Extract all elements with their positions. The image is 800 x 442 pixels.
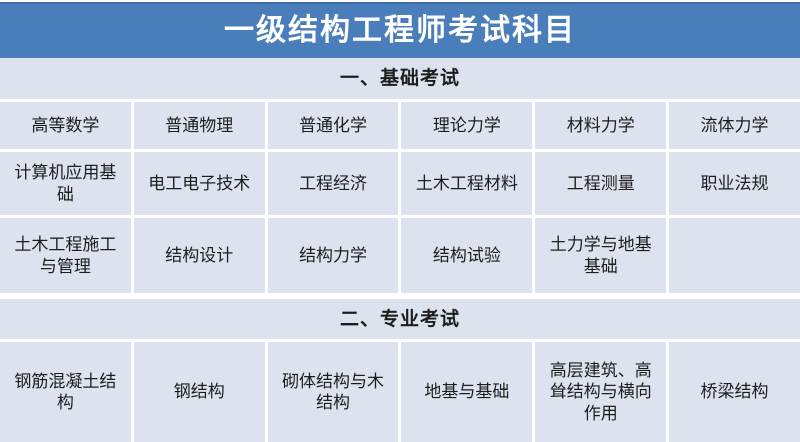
subject-cell: 电工电子技术 <box>134 152 268 215</box>
subject-cell: 理论力学 <box>401 102 535 149</box>
subject-cell: 钢结构 <box>134 342 268 442</box>
section-header-major: 二、专业考试 <box>0 296 800 342</box>
subject-cell: 土木工程施工与管理 <box>0 218 134 293</box>
subject-cell: 流体力学 <box>669 102 800 149</box>
exam-subjects-table: 一级结构工程师考试科目 一、基础考试 高等数学 普通物理 普通化学 理论力学 材… <box>0 0 800 442</box>
table-row: 土木工程施工与管理 结构设计 结构力学 结构试验 土力学与地基基础 <box>0 218 800 296</box>
subject-label: 土力学与地基基础 <box>542 234 659 277</box>
subject-label: 砌体结构与木结构 <box>275 371 392 414</box>
subject-label: 结构试验 <box>433 245 501 266</box>
subject-label: 工程测量 <box>567 173 635 194</box>
subject-cell: 结构试验 <box>401 218 535 293</box>
subject-label: 土木工程施工与管理 <box>7 234 124 277</box>
subject-cell: 高层建筑、高耸结构与横向作用 <box>535 342 669 442</box>
subject-label: 工程经济 <box>299 173 367 194</box>
subject-cell: 普通物理 <box>134 102 268 149</box>
subject-label: 职业法规 <box>701 173 769 194</box>
subject-cell: 土木工程材料 <box>401 152 535 215</box>
subject-label: 桥梁结构 <box>701 381 769 402</box>
subject-label: 高等数学 <box>31 115 99 136</box>
document-title-bar: 一级结构工程师考试科目 <box>0 2 800 58</box>
subject-cell: 工程经济 <box>268 152 402 215</box>
subject-label: 结构力学 <box>299 245 367 266</box>
subject-cell: 桥梁结构 <box>669 342 800 442</box>
subject-label: 普通化学 <box>299 115 367 136</box>
subject-label: 理论力学 <box>433 115 501 136</box>
subject-label: 高层建筑、高耸结构与横向作用 <box>542 360 659 424</box>
subject-label: 土木工程材料 <box>416 173 518 194</box>
subject-cell: 地基与基础 <box>401 342 535 442</box>
subject-cell: 砌体结构与木结构 <box>268 342 402 442</box>
section-header-basic: 一、基础考试 <box>0 58 800 102</box>
subject-label: 计算机应用基础 <box>7 162 124 205</box>
subject-label: 材料力学 <box>567 115 635 136</box>
subject-cell: 钢筋混凝土结构 <box>0 342 134 442</box>
subject-cell: 结构力学 <box>268 218 402 293</box>
page-title: 一级结构工程师考试科目 <box>224 16 576 46</box>
subject-label: 钢结构 <box>174 381 225 402</box>
subject-cell: 计算机应用基础 <box>0 152 134 215</box>
subject-label: 流体力学 <box>701 115 769 136</box>
table-row: 计算机应用基础 电工电子技术 工程经济 土木工程材料 工程测量 职业法规 <box>0 152 800 218</box>
table-row: 高等数学 普通物理 普通化学 理论力学 材料力学 流体力学 <box>0 102 800 152</box>
subject-label: 地基与基础 <box>424 381 509 402</box>
table-row: 钢筋混凝土结构 钢结构 砌体结构与木结构 地基与基础 高层建筑、高耸结构与横向作… <box>0 342 800 442</box>
subject-cell: 工程测量 <box>535 152 669 215</box>
subject-label: 结构设计 <box>165 245 233 266</box>
section-header-major-label: 二、专业考试 <box>340 310 460 329</box>
subject-cell: 土力学与地基基础 <box>535 218 669 293</box>
subject-cell-empty <box>669 218 800 293</box>
subject-cell: 高等数学 <box>0 102 134 149</box>
subject-label: 普通物理 <box>165 115 233 136</box>
subjects-grid: 一、基础考试 高等数学 普通物理 普通化学 理论力学 材料力学 流体力学 计算机… <box>0 58 800 442</box>
subject-cell: 结构设计 <box>134 218 268 293</box>
subject-cell: 职业法规 <box>669 152 800 215</box>
section-header-basic-label: 一、基础考试 <box>340 69 460 88</box>
subject-cell: 普通化学 <box>268 102 402 149</box>
subject-label: 钢筋混凝土结构 <box>7 371 124 414</box>
subject-cell: 材料力学 <box>535 102 669 149</box>
subject-label: 电工电子技术 <box>148 173 250 194</box>
